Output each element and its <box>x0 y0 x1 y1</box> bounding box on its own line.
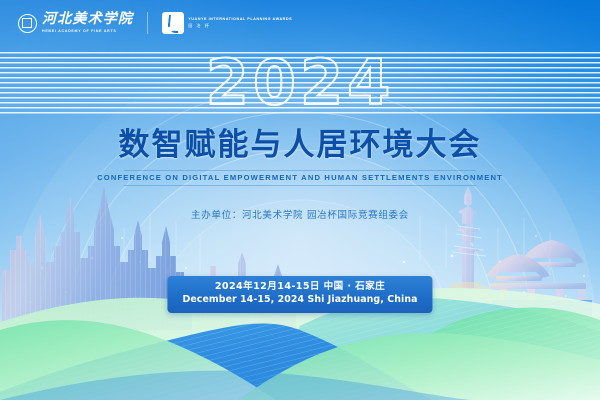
date-line-cn: 2024年12月14-15日 中国 · 石家庄 <box>182 281 417 294</box>
date-line-en: December 14-15, 2024 Shi Jiazhuang, Chin… <box>182 294 417 307</box>
organizer-line: 主办单位：河北美术学院 园冶杯国际竞赛组委会 <box>0 207 600 221</box>
conference-poster: 河北美术学院 HEBEI ACADEMY OF FINE ARTS YUANYE… <box>0 0 600 400</box>
logo-university-name-en: HEBEI ACADEMY OF FINE ARTS <box>42 30 133 34</box>
title-rule-bottom <box>124 185 476 186</box>
logo-award-name-cn: 园 冶 杯 <box>188 24 292 28</box>
logo-yuanye-awards[interactable]: YUANYE INTERNATIONAL PLANNING AWARDS 园 冶… <box>162 12 292 34</box>
logo-award-name-en: YUANYE INTERNATIONAL PLANNING AWARDS <box>188 18 292 22</box>
circle-seal-icon <box>18 14 37 33</box>
year-text: 2024 <box>206 52 395 114</box>
chinese-pagoda-silhouette <box>436 186 502 300</box>
subtitle-english: CONFERENCE ON DIGITAL EMPOWERMENT AND HU… <box>0 173 600 182</box>
logo-hebei-academy[interactable]: 河北美术学院 HEBEI ACADEMY OF FINE ARTS <box>18 13 133 34</box>
title-rule-top <box>124 170 476 171</box>
year-display: 2024 <box>0 52 600 114</box>
logo-university-name-cn: 河北美术学院 <box>42 13 133 27</box>
yuanye-mark-icon <box>162 12 184 34</box>
page-title: 数智赋能与人居环境大会 <box>0 128 600 164</box>
logo-divider <box>147 12 148 34</box>
header-logos: 河北美术学院 HEBEI ACADEMY OF FINE ARTS YUANYE… <box>18 12 292 34</box>
date-location-badge: 2024年12月14-15日 中国 · 石家庄 December 14-15, … <box>167 276 432 313</box>
